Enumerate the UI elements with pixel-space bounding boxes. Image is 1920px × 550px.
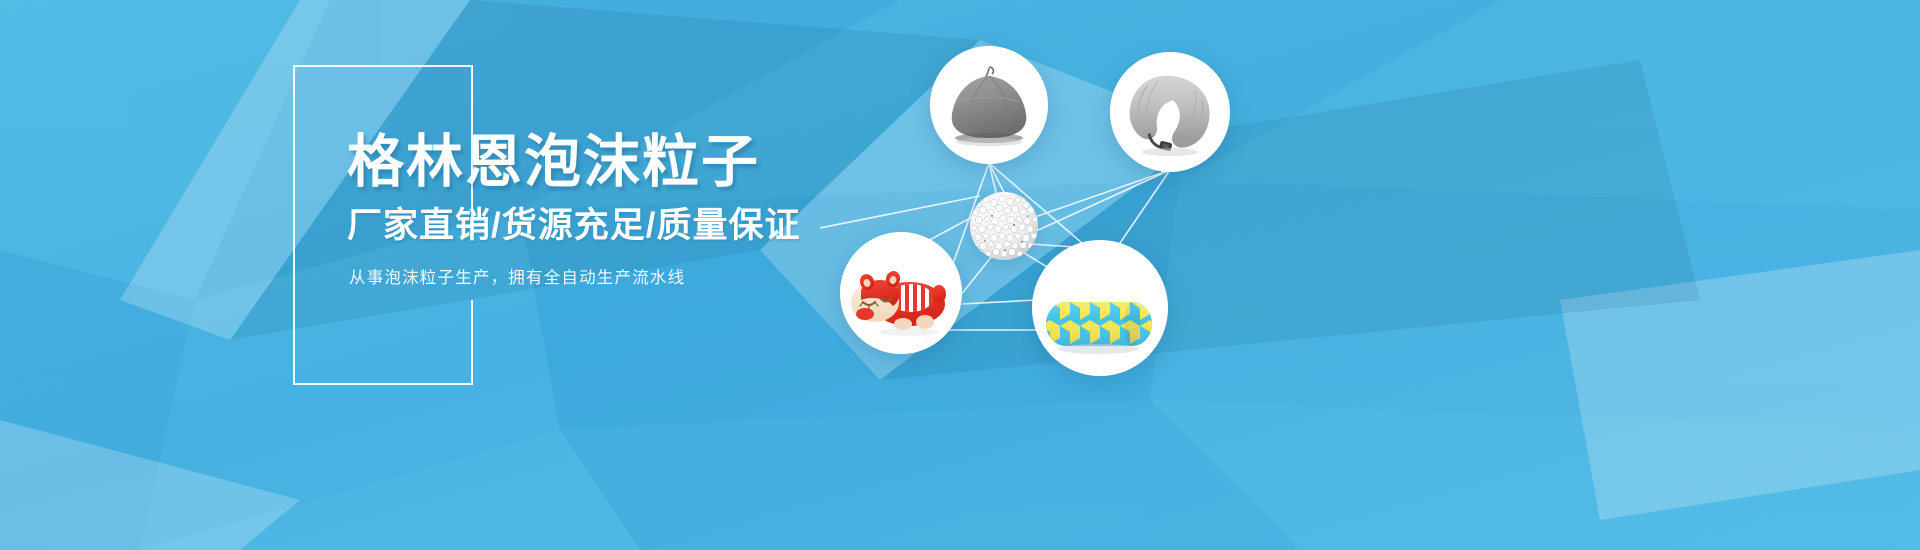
product-bubble-neck-pillow[interactable] xyxy=(1110,52,1230,172)
product-bubble-beanbag[interactable] xyxy=(930,46,1048,164)
cube-pattern-bolster-pillow-photo xyxy=(1032,240,1168,376)
frame-right-stub-bottom xyxy=(471,300,473,385)
product-cluster xyxy=(820,0,1920,550)
bean-bag-chair-photo xyxy=(930,46,1048,164)
product-bubble-bolster-pillow[interactable] xyxy=(1032,240,1168,376)
plush-animal-toy-photo xyxy=(840,232,962,354)
product-bubble-plush-toy[interactable] xyxy=(840,232,962,354)
travel-neck-pillow-photo xyxy=(1110,52,1230,172)
promo-banner: 格林恩泡沫粒子 厂家直销/货源充足/质量保证 从事泡沫粒子生产，拥有全自动生产流… xyxy=(0,0,1920,550)
foam-beads-cluster-icon xyxy=(970,192,1038,260)
